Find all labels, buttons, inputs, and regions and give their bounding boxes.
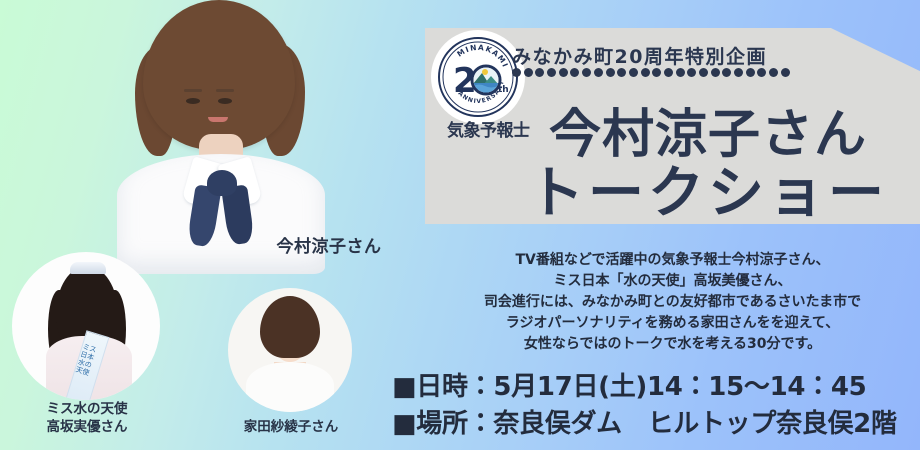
eyebrow-left — [184, 89, 202, 92]
hair-top — [143, 0, 295, 150]
hair — [260, 296, 320, 358]
event-subtitle: みなかみ町20周年特別企画 — [512, 42, 767, 69]
caption-kousaka: ミス水の天使 高坂実優さん — [6, 400, 168, 436]
scarf-knot — [207, 170, 237, 196]
tiara-icon — [70, 262, 106, 274]
svg-text:th: th — [498, 85, 509, 95]
portrait-kousaka: ミス日本水の天使 — [12, 252, 160, 400]
eye-left — [186, 98, 200, 104]
caption-imamura: 今村涼子さん — [244, 236, 414, 259]
mouth — [208, 117, 228, 122]
headline-kicker: 気象予報士 — [447, 116, 530, 141]
headline-talk-show: トークショー — [528, 148, 888, 229]
dotted-divider — [512, 66, 790, 78]
eyebrow-right — [216, 89, 234, 92]
top — [246, 362, 334, 412]
event-poster: 今村涼子さん ミス日本水の天使 ミス水の天使 高坂実優さん 家田紗綾子さん MI… — [0, 0, 920, 450]
portrait-ieda — [228, 288, 352, 412]
caption-ieda: 家田紗綾子さん — [232, 418, 350, 436]
event-description: TV番組などで活躍中の気象予報士今村涼子さん、 ミス日本「水の天使」高坂美優さん… — [425, 250, 920, 355]
portrait-imamura — [95, 0, 345, 264]
event-details: ■日時：5月17日(土)14：15〜14：45 ■場所：奈良俣ダム ヒルトップ奈… — [392, 369, 897, 443]
anniversary-logo: MINAKAMI ANNIVERSARY 2 th — [431, 30, 525, 124]
eye-right — [218, 98, 232, 104]
